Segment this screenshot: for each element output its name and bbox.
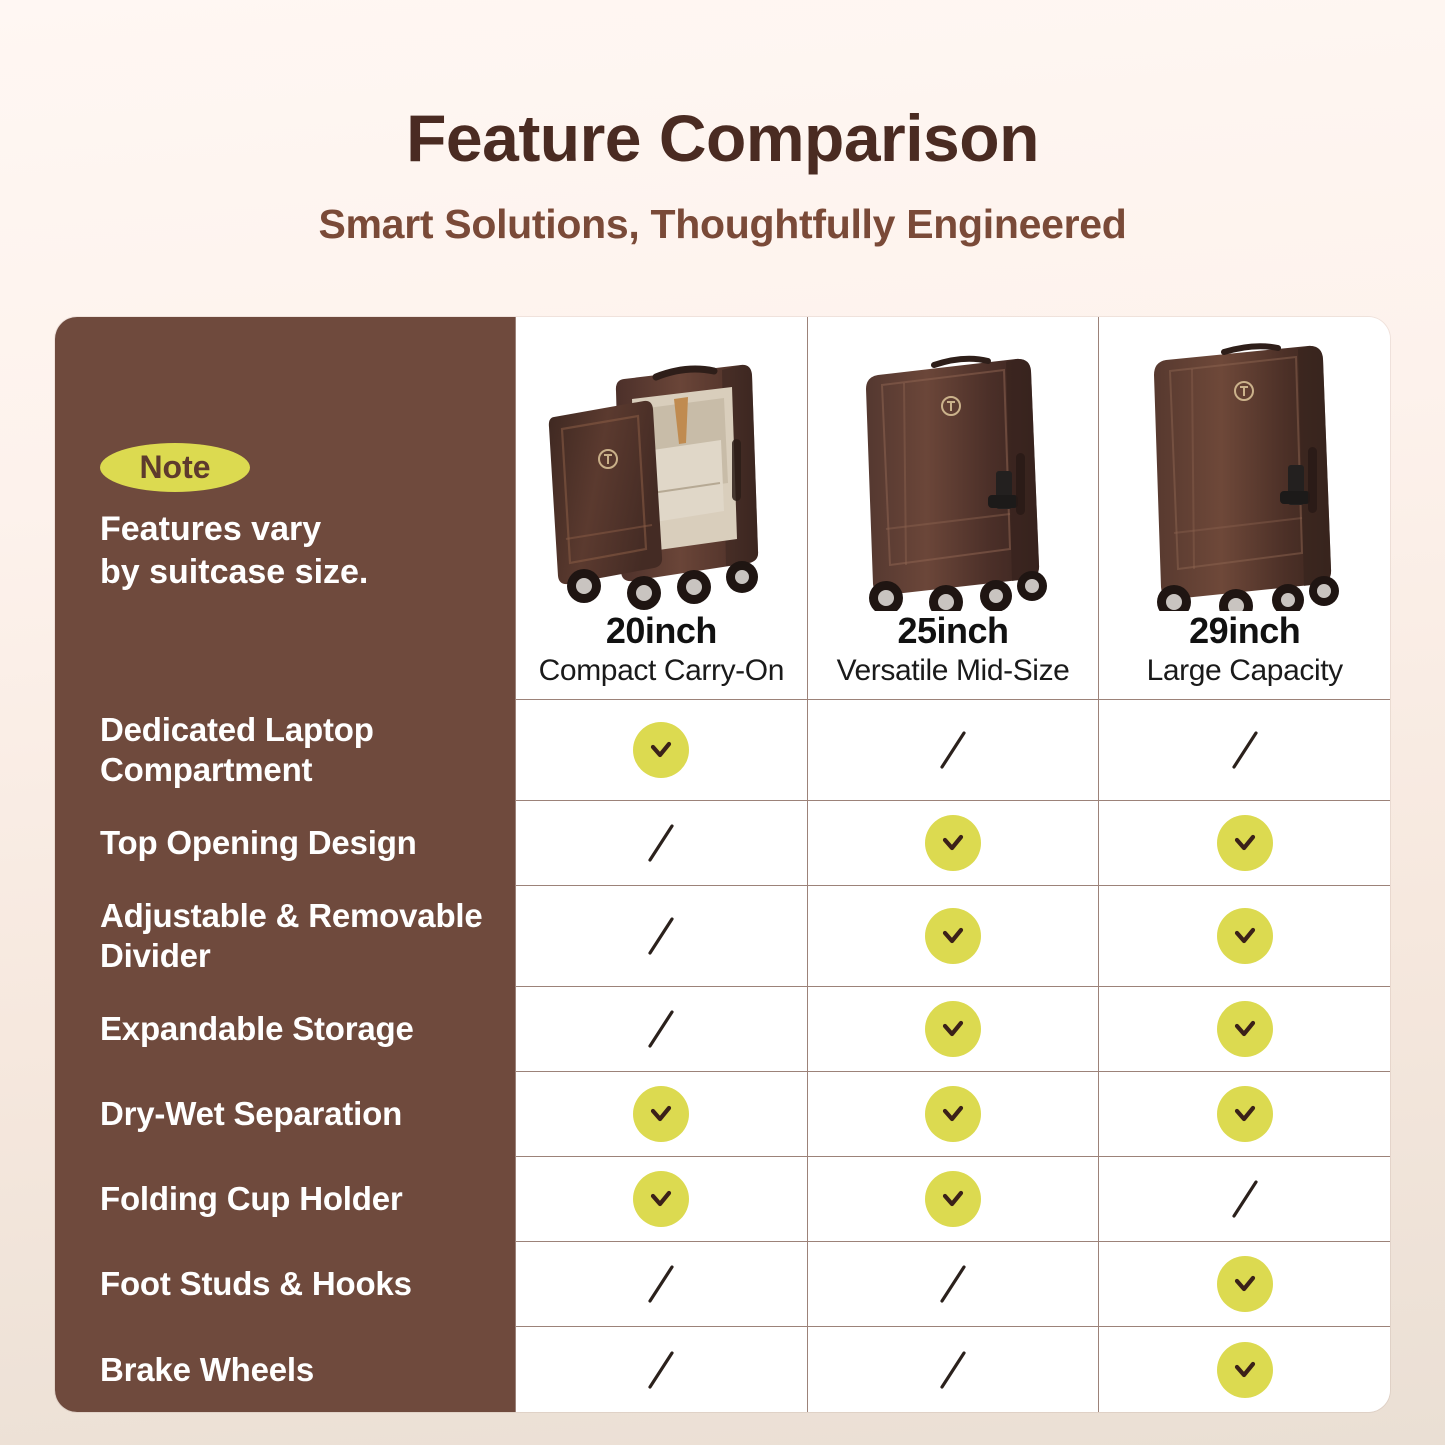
feature-value-cell <box>515 1157 807 1241</box>
check-mark-icon <box>925 815 981 871</box>
feature-value-cell <box>1098 1072 1390 1156</box>
note-panel: Note Features vary by suitcase size. <box>55 317 515 701</box>
feature-value-cell <box>515 801 807 885</box>
check-mark-icon <box>1217 815 1273 871</box>
column-desc-label: Large Capacity <box>1147 653 1343 689</box>
feature-value-cell <box>1098 801 1390 885</box>
feature-value-cell <box>515 1327 807 1412</box>
slash-icon <box>641 912 681 960</box>
feature-value-cell <box>515 1072 807 1156</box>
page-header: Feature Comparison Smart Solutions, Thou… <box>0 0 1445 248</box>
feature-label-cell: Expandable Storage <box>55 987 515 1073</box>
check-mark-icon <box>633 722 689 778</box>
feature-value-cell <box>1098 987 1390 1071</box>
slash-icon <box>933 726 973 774</box>
slash-icon <box>641 819 681 867</box>
feature-value-cell <box>515 886 807 986</box>
column-header-25inch[interactable]: 25inch Versatile Mid-Size <box>807 317 1099 699</box>
table-row: Top Opening Design <box>55 801 1390 886</box>
check-mark-icon <box>1217 908 1273 964</box>
feature-label: Dedicated Laptop Compartment <box>100 710 515 791</box>
suitcase-large-icon <box>1099 343 1390 611</box>
feature-label: Dry-Wet Separation <box>100 1094 402 1134</box>
suitcase-open-front-icon <box>516 343 807 611</box>
feature-value-cell <box>1098 1242 1390 1326</box>
feature-value-cell <box>807 1072 1099 1156</box>
check-mark-icon <box>925 1086 981 1142</box>
feature-label: Brake Wheels <box>100 1350 314 1390</box>
table-row: Adjustable & Removable Divider <box>55 886 1390 987</box>
check-mark-icon <box>1217 1086 1273 1142</box>
slash-icon <box>641 1346 681 1394</box>
table-header-row: Note Features vary by suitcase size. <box>55 317 1390 700</box>
feature-label-cell: Folding Cup Holder <box>55 1157 515 1243</box>
check-mark-icon <box>1217 1342 1273 1398</box>
table-row: Folding Cup Holder <box>55 1157 1390 1242</box>
feature-label-cell: Dry-Wet Separation <box>55 1072 515 1158</box>
slash-icon <box>933 1346 973 1394</box>
check-mark-icon <box>925 1001 981 1057</box>
feature-value-cell <box>515 987 807 1071</box>
feature-value-cell <box>807 700 1099 800</box>
feature-value-cell <box>1098 886 1390 986</box>
table-row: Foot Studs & Hooks <box>55 1242 1390 1327</box>
feature-label: Expandable Storage <box>100 1009 414 1049</box>
column-desc-label: Versatile Mid-Size <box>837 653 1070 689</box>
feature-label: Folding Cup Holder <box>100 1179 403 1219</box>
slash-icon <box>1225 1175 1265 1223</box>
column-size-label: 25inch <box>897 611 1008 651</box>
table-row: Expandable Storage <box>55 987 1390 1072</box>
table-row: Dry-Wet Separation <box>55 1072 1390 1157</box>
column-header-20inch[interactable]: 20inch Compact Carry-On <box>515 317 807 699</box>
feature-label: Top Opening Design <box>100 823 417 863</box>
feature-value-cell <box>1098 1327 1390 1412</box>
column-desc-label: Compact Carry-On <box>539 653 784 689</box>
check-mark-icon <box>633 1086 689 1142</box>
feature-label-cell: Top Opening Design <box>55 801 515 887</box>
feature-comparison-table: Note Features vary by suitcase size. <box>55 317 1390 1412</box>
suitcase-closed-icon <box>808 343 1099 611</box>
feature-value-cell <box>515 1242 807 1326</box>
table-row: Brake Wheels <box>55 1327 1390 1412</box>
check-mark-icon <box>925 1171 981 1227</box>
slash-icon <box>641 1260 681 1308</box>
feature-label-cell: Adjustable & Removable Divider <box>55 886 515 988</box>
feature-value-cell <box>807 801 1099 885</box>
slash-icon <box>1225 726 1265 774</box>
feature-value-cell <box>1098 1157 1390 1241</box>
table-body: Dedicated Laptop CompartmentTop Opening … <box>55 700 1390 1412</box>
feature-label-cell: Brake Wheels <box>55 1327 515 1412</box>
table-row: Dedicated Laptop Compartment <box>55 700 1390 801</box>
feature-value-cell <box>807 1157 1099 1241</box>
feature-value-cell <box>515 700 807 800</box>
feature-label-cell: Foot Studs & Hooks <box>55 1242 515 1328</box>
feature-label: Foot Studs & Hooks <box>100 1264 412 1304</box>
column-header-29inch[interactable]: 29inch Large Capacity <box>1098 317 1390 699</box>
feature-value-cell <box>807 1327 1099 1412</box>
slash-icon <box>641 1005 681 1053</box>
page-subtitle: Smart Solutions, Thoughtfully Engineered <box>0 201 1445 248</box>
check-mark-icon <box>633 1171 689 1227</box>
slash-icon <box>933 1260 973 1308</box>
feature-value-cell <box>807 987 1099 1071</box>
feature-label: Adjustable & Removable Divider <box>100 896 515 977</box>
check-mark-icon <box>1217 1256 1273 1312</box>
column-size-label: 20inch <box>606 611 717 651</box>
feature-value-cell <box>807 886 1099 986</box>
feature-label-cell: Dedicated Laptop Compartment <box>55 700 515 802</box>
feature-value-cell <box>807 1242 1099 1326</box>
page-title: Feature Comparison <box>0 104 1445 173</box>
check-mark-icon <box>925 908 981 964</box>
feature-value-cell <box>1098 700 1390 800</box>
check-mark-icon <box>1217 1001 1273 1057</box>
column-size-label: 29inch <box>1189 611 1300 651</box>
note-text: Features vary by suitcase size. <box>100 508 368 593</box>
note-badge: Note <box>100 443 250 492</box>
